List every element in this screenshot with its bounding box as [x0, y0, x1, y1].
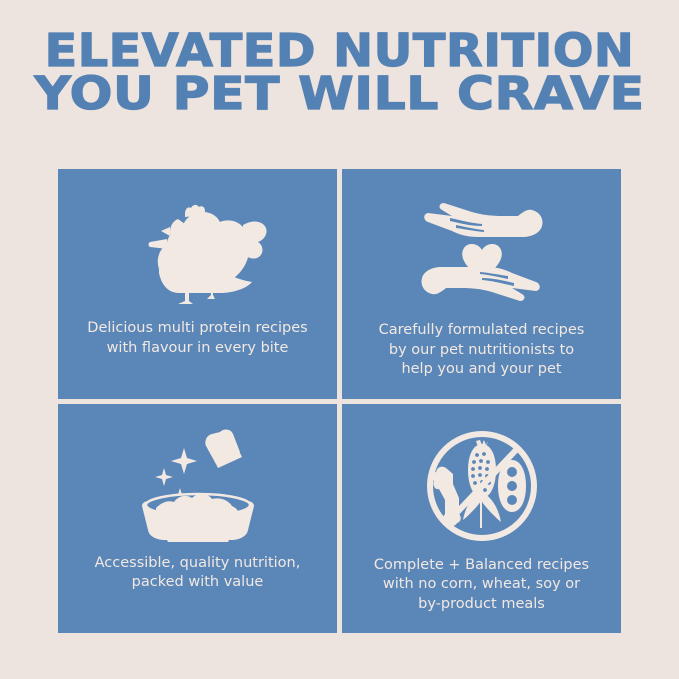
hands-heart-icon [342, 169, 621, 315]
caption-line: Complete + Balanced recipes [356, 556, 607, 576]
benefits-grid: Delicious multi protein recipes with fla… [58, 169, 621, 633]
benefit-panel-no-fillers: Complete + Balanced recipes with no corn… [342, 404, 621, 634]
infographic-poster: ELEVATED NUTRITION YOU PET WILL CRAVE [0, 0, 679, 679]
caption-line: by-product meals [356, 595, 607, 615]
caption-line: by our pet nutritionists to [356, 341, 607, 361]
benefit-caption-value: Accessible, quality nutrition, packed wi… [58, 554, 337, 593]
benefit-caption-nutritionists: Carefully formulated recipes by our pet … [342, 321, 621, 380]
caption-line: Carefully formulated recipes [356, 321, 607, 341]
benefit-panel-nutritionists: Carefully formulated recipes by our pet … [342, 169, 621, 399]
caption-line: Delicious multi protein recipes [72, 319, 323, 339]
no-corn-wheat-soy-icon [342, 404, 621, 548]
caption-line: help you and your pet [356, 360, 607, 380]
headline-line-2: YOU PET WILL CRAVE [0, 73, 679, 114]
caption-line: Accessible, quality nutrition, [72, 554, 323, 574]
page-title: ELEVATED NUTRITION YOU PET WILL CRAVE [0, 30, 679, 115]
caption-line: with no corn, wheat, soy or [356, 575, 607, 595]
headline-line-1: ELEVATED NUTRITION [0, 30, 679, 71]
caption-line: with flavour in every bite [72, 339, 323, 359]
benefit-panel-protein: Delicious multi protein recipes with fla… [58, 169, 337, 399]
benefit-caption-no-fillers: Complete + Balanced recipes with no corn… [342, 556, 621, 615]
caption-line: packed with value [72, 573, 323, 593]
benefit-caption-protein: Delicious multi protein recipes with fla… [58, 319, 337, 358]
chicken-duck-icon [58, 169, 337, 315]
food-bowl-scoop-icon [58, 404, 337, 548]
benefit-panel-value: Accessible, quality nutrition, packed wi… [58, 404, 337, 634]
